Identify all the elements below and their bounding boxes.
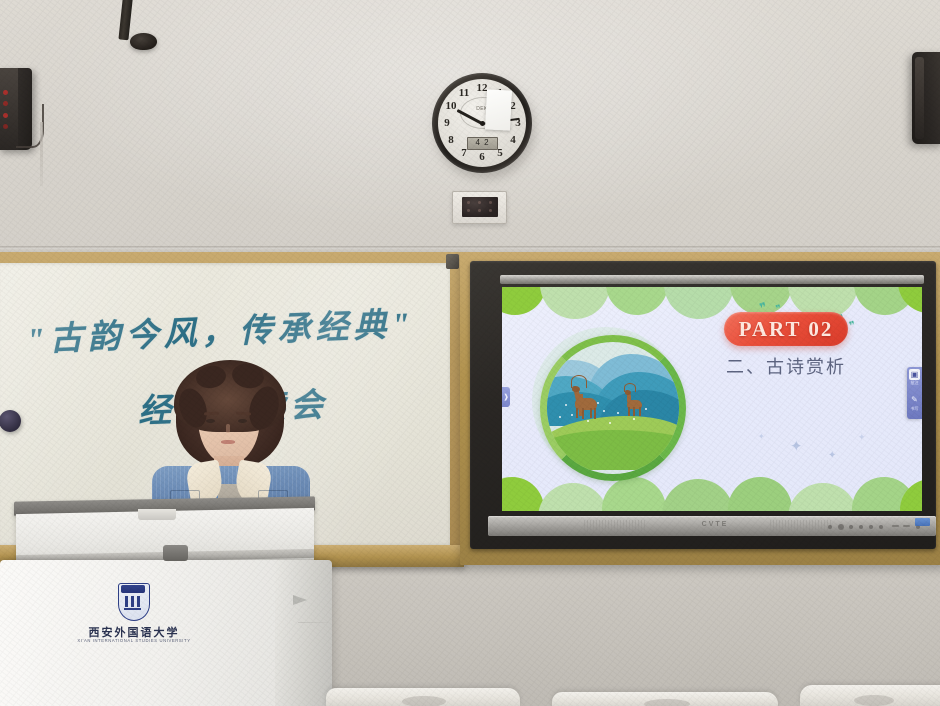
crest-detail	[124, 608, 141, 610]
whiteboard-corner-bracket	[446, 254, 459, 269]
star-icon: ✦	[828, 451, 836, 461]
part-badge: PART 02	[724, 312, 848, 346]
control-button[interactable]	[838, 524, 844, 530]
chair-handle	[644, 699, 690, 706]
star-icon: ✦	[858, 433, 866, 442]
clock-numeral-11: 11	[456, 88, 472, 99]
smart-board-screen[interactable]: ❞ ❞ ❞ ❞ PART 02 二、古诗赏析 ✦ ✦ ✦ ✦ ❱	[502, 287, 922, 511]
sensor-led	[467, 201, 470, 204]
crest-detail	[137, 596, 140, 607]
smart-board-top-trim	[500, 275, 924, 284]
speaker-grill	[584, 520, 646, 532]
deer-leg	[590, 408, 592, 418]
eye	[238, 419, 247, 423]
classroom-chair[interactable]	[800, 685, 940, 706]
control-button[interactable]	[879, 525, 883, 529]
mouth	[221, 440, 235, 444]
classroom-chair[interactable]	[552, 692, 778, 706]
slide-toolbar[interactable]: ▣ 批注 ✎ 书写	[907, 367, 922, 419]
wall-speaker-right	[912, 52, 940, 144]
scallop-shape	[788, 483, 858, 511]
sensor-led	[478, 209, 481, 212]
scallop-shape	[606, 287, 668, 315]
scallop-shape	[502, 287, 546, 315]
podium-vent-arrow	[293, 595, 307, 605]
deer-leg	[576, 408, 578, 418]
deer-illustration	[540, 335, 686, 481]
scallop-shape	[728, 477, 792, 511]
crest-detail	[131, 596, 134, 607]
pen-tool-label: 书写	[907, 406, 922, 412]
deer-antlers	[571, 375, 587, 388]
part-badge-label: PART 02	[724, 312, 848, 346]
chair-handle	[402, 696, 446, 706]
university-crest	[118, 583, 148, 619]
clock-face: DEK 12 1 2 3 4 5 6 7 8 9 10 11 4 2	[438, 79, 526, 167]
podium-latch[interactable]	[163, 545, 188, 561]
wall-clock: DEK 12 1 2 3 4 5 6 7 8 9 10 11 4 2	[432, 73, 535, 178]
scallop-shape	[502, 477, 544, 511]
interactive-smart-board: ❞ ❞ ❞ ❞ PART 02 二、古诗赏析 ✦ ✦ ✦ ✦ ❱	[460, 252, 940, 565]
scallop-shape	[602, 477, 666, 511]
sensor-led	[478, 201, 481, 204]
speaker-terminal	[3, 124, 8, 129]
presentation-slide: ❞ ❞ ❞ ❞ PART 02 二、古诗赏析 ✦ ✦ ✦ ✦ ❱	[502, 287, 922, 511]
podium-clip	[138, 509, 176, 520]
scallop-shape	[538, 483, 608, 511]
smart-board-bezel: ❞ ❞ ❞ ❞ PART 02 二、古诗赏析 ✦ ✦ ✦ ✦ ❱	[470, 261, 936, 549]
crest-detail	[125, 596, 128, 607]
scallop-shape	[540, 287, 610, 319]
clock-numeral-9: 9	[439, 118, 455, 129]
speaker-terminal	[3, 90, 8, 95]
pen-icon[interactable]: ✎	[909, 394, 920, 405]
deer-scene	[547, 342, 665, 460]
whiteboard-magnet[interactable]	[0, 410, 21, 432]
speaker-cable-drop	[40, 122, 43, 186]
slide-section-title: 二、古诗赏析	[726, 353, 896, 379]
ceiling-mount-head	[130, 33, 157, 50]
brand-badge	[915, 518, 930, 526]
control-slider[interactable]	[892, 525, 899, 527]
deer-leg	[633, 407, 635, 416]
clock-date-window: 4 2	[467, 137, 498, 150]
eye	[206, 419, 215, 423]
sensor-window	[462, 197, 498, 217]
scallop-shape	[662, 479, 734, 511]
sensor-led	[489, 209, 492, 212]
speaker-terminal	[3, 101, 8, 106]
control-slider[interactable]	[903, 525, 910, 527]
star-icon: ✦	[790, 439, 803, 454]
wall-seam	[0, 246, 940, 249]
clock-taped-paper	[485, 89, 512, 130]
control-button[interactable]	[859, 525, 863, 529]
smart-board-control-bar[interactable]: CVTE	[488, 516, 936, 536]
control-button[interactable]	[849, 525, 853, 529]
wall-sensor-panel	[452, 191, 507, 224]
star-icon: ✦	[758, 433, 765, 441]
university-name-en: XI'AN INTERNATIONAL STUDIES UNIVERSITY	[70, 638, 198, 643]
bird-icon: ❞	[848, 320, 857, 332]
smart-board-brand: CVTE	[670, 521, 760, 528]
classroom-chair[interactable]	[326, 688, 520, 706]
nose	[226, 424, 230, 433]
deer-leg	[628, 407, 630, 416]
deer-leg	[594, 408, 596, 419]
deer-leg	[639, 407, 641, 416]
screen-icon[interactable]: ▣	[909, 369, 920, 380]
sensor-led	[467, 209, 470, 212]
student-presenter	[146, 358, 314, 508]
clock-numeral-8: 8	[443, 135, 459, 146]
deer-small-neck	[627, 394, 631, 403]
sensor-led	[489, 201, 492, 204]
control-button[interactable]	[828, 525, 832, 529]
screen-tool-label: 批注	[907, 380, 922, 386]
clock-numeral-6: 6	[474, 152, 490, 163]
speaker-grill	[770, 520, 832, 532]
podium-seam	[298, 622, 328, 623]
control-button[interactable]	[869, 525, 873, 529]
meadow-layer	[540, 430, 686, 470]
crest-banner	[121, 585, 145, 593]
classroom-scene: DEK 12 1 2 3 4 5 6 7 8 9 10 11 4 2	[0, 0, 940, 706]
speaker-terminal	[3, 113, 8, 118]
podium-side-panel	[275, 560, 332, 706]
deer-leg	[582, 408, 584, 419]
chair-handle	[854, 695, 894, 706]
deer-small-antlers	[624, 383, 636, 392]
clock-numeral-4: 4	[505, 135, 521, 146]
chevron-right-icon[interactable]: ❱	[502, 387, 510, 407]
